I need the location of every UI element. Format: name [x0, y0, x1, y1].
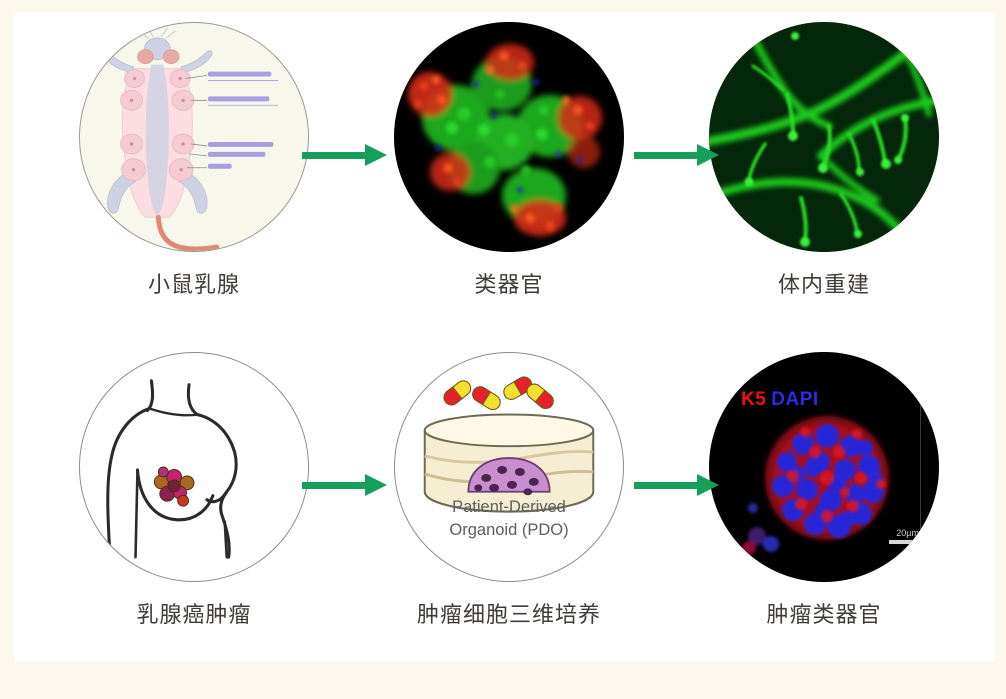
step-mouse-mammary-gland: 小鼠乳腺	[44, 22, 344, 322]
pdo-label: Patient-Derived Organoid (PDO)	[395, 496, 623, 542]
scale-bar	[889, 540, 915, 544]
pdo-label-line1: Patient-Derived	[395, 496, 623, 519]
arrow-right-icon	[634, 142, 722, 168]
arrow-shaft	[302, 482, 370, 489]
step-caption: 肿瘤细胞三维培养	[359, 597, 659, 629]
breast-tumor-line-illustration	[79, 352, 309, 582]
mouse-anatomy-illustration	[79, 22, 309, 252]
step-caption: 肿瘤类器官	[674, 597, 974, 629]
k5-dapi-tumor-organoid-micrograph: K5DAPI 20µm	[709, 352, 939, 582]
step-tumor-cell-3d-culture: Patient-Derived Organoid (PDO) 肿瘤细胞三维培养	[359, 352, 659, 652]
step-organoid: 类器官	[359, 22, 659, 322]
arrow-right-icon	[302, 142, 390, 168]
step-tumor-organoid: K5DAPI 20µm 肿瘤类器官	[674, 352, 974, 652]
step-breast-cancer-tumor: 乳腺癌肿瘤	[44, 352, 344, 652]
pdo-culture-dish-illustration: Patient-Derived Organoid (PDO)	[394, 352, 624, 582]
step-caption: 体内重建	[674, 267, 974, 299]
image-divider-line	[920, 378, 922, 560]
step-caption: 乳腺癌肿瘤	[44, 597, 344, 629]
arrow-shaft	[302, 152, 370, 159]
step-in-vivo-reconstruction: 体内重建	[674, 22, 974, 322]
arrow-shaft	[634, 152, 702, 159]
workflow-grid: 小鼠乳腺	[14, 12, 995, 662]
arrow-head	[365, 474, 387, 496]
arrow-head	[697, 474, 719, 496]
arrow-shaft	[634, 482, 702, 489]
k5-dapi-legend: K5DAPI	[741, 389, 819, 411]
arrow-right-icon	[302, 472, 390, 498]
fluorescence-organoid-micrograph	[394, 22, 624, 252]
dapi-marker-label: DAPI	[771, 389, 818, 410]
step-caption: 类器官	[359, 267, 659, 299]
arrow-right-icon	[634, 472, 722, 498]
step-caption: 小鼠乳腺	[44, 267, 344, 299]
arrow-head	[365, 144, 387, 166]
figure-card: 小鼠乳腺	[14, 12, 995, 662]
scale-bar-label: 20µm	[896, 528, 919, 538]
green-branching-duct-micrograph	[709, 22, 939, 252]
arrow-head	[697, 144, 719, 166]
pdo-label-line2: Organoid (PDO)	[395, 519, 623, 542]
k5-marker-label: K5	[741, 389, 766, 410]
